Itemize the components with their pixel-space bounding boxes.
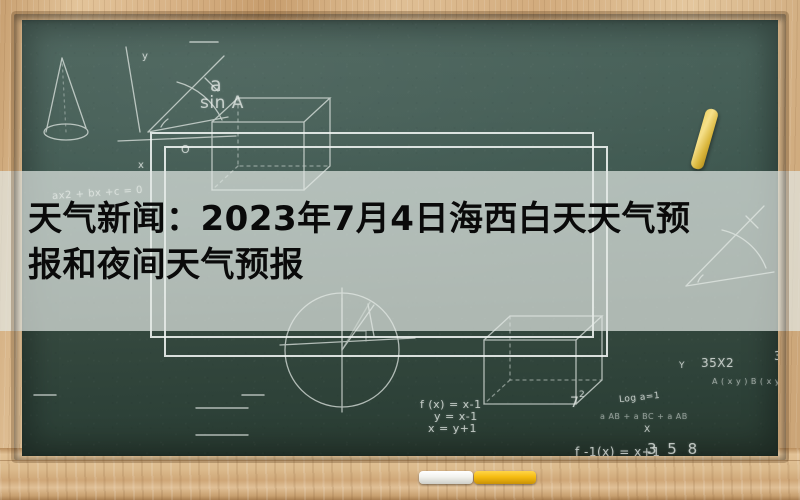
chalk-stick-white	[419, 471, 473, 484]
frame-inner-shadow	[14, 14, 786, 460]
chalkboard-banner: a sin A y x O ax2 + bx +c = 0 f (x) = x-…	[0, 0, 800, 500]
chalk-stick-yellow	[474, 471, 536, 484]
